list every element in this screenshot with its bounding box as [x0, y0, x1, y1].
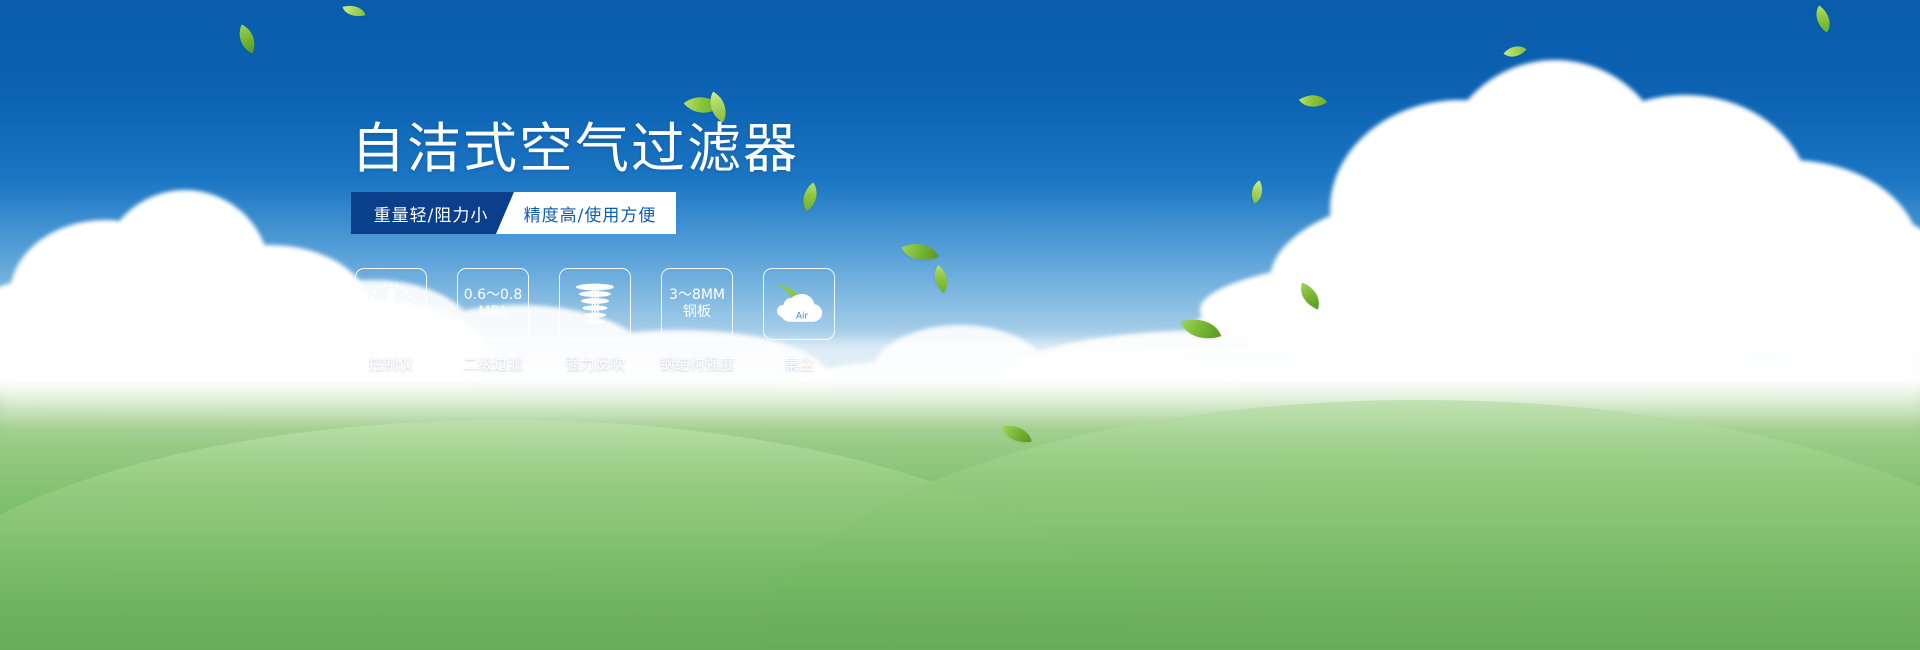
- feature-icon-box: 3～8MM 钢板: [661, 268, 733, 340]
- pressure-value: 0.6～0.8: [464, 287, 523, 303]
- feature-label: 钢结构强度: [660, 353, 735, 374]
- feature-icon-box: [559, 268, 631, 340]
- feature-icon-row: NO OFF 控制仪 0.6～0.8 MPA 二级过滤: [355, 268, 835, 374]
- feature-icon-box: 0.6～0.8 MPA: [457, 268, 529, 340]
- banner-content: 自洁式空气过滤器 重量轻/阻力小 精度高/使用方便: [0, 0, 1920, 650]
- gauge-dial-icon: NO OFF: [364, 277, 418, 331]
- steel-material: 钢板: [669, 304, 725, 321]
- badge-lightweight-low-resistance: 重量轻/阻力小: [351, 192, 514, 234]
- gauge-off-label: OFF: [400, 318, 412, 325]
- pressure-unit: MPA: [464, 304, 523, 321]
- feature-dust-collection[interactable]: Air 集尘: [763, 268, 835, 374]
- feature-secondary-filtration[interactable]: 0.6～0.8 MPA 二级过滤: [457, 268, 529, 374]
- badge-row: 重量轻/阻力小 精度高/使用方便: [351, 192, 676, 234]
- feature-icon-box: NO OFF: [355, 268, 427, 340]
- feature-label: 集尘: [784, 353, 814, 374]
- steel-plate-text-icon: 3～8MM 钢板: [669, 287, 725, 321]
- badge-high-precision-easy-use: 精度高/使用方便: [496, 192, 676, 234]
- air-cloud-icon: Air: [771, 278, 827, 330]
- air-label: Air: [796, 312, 809, 322]
- feature-steel-structure-strength[interactable]: 3～8MM 钢板 钢结构强度: [661, 268, 733, 374]
- pressure-text-icon: 0.6～0.8 MPA: [464, 287, 523, 321]
- steel-thickness: 3～8MM: [669, 287, 725, 303]
- feature-label: 二级过滤: [463, 353, 523, 374]
- feature-icon-box: Air: [763, 268, 835, 340]
- blowback-coil-icon: [570, 279, 620, 329]
- feature-label: 控制仪: [368, 353, 413, 374]
- feature-controller[interactable]: NO OFF 控制仪: [355, 268, 427, 374]
- gauge-no-label: NO: [365, 298, 375, 306]
- feature-strong-blowback[interactable]: 强力反吹: [559, 268, 631, 374]
- page-title: 自洁式空气过滤器: [351, 119, 799, 179]
- feature-label: 强力反吹: [565, 353, 625, 374]
- hero-banner: 自洁式空气过滤器 重量轻/阻力小 精度高/使用方便: [0, 0, 1920, 650]
